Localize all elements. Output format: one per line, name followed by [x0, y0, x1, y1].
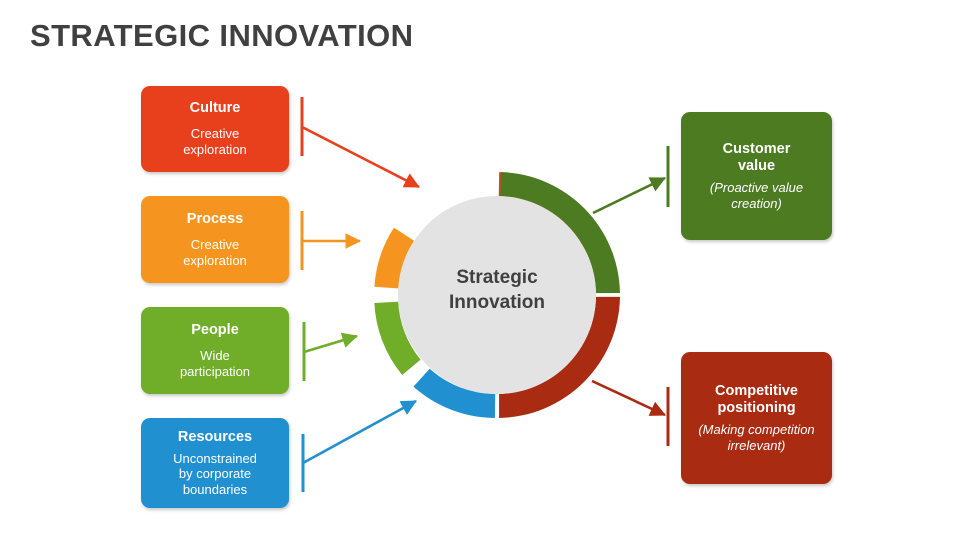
card-resources-title: Resources [178, 429, 252, 446]
card-people-subtitle-line2: participation [180, 364, 250, 380]
card-customer-value-title: Customer value [723, 141, 791, 175]
card-competitive-positioning-title-line2: positioning [715, 400, 798, 417]
card-culture-subtitle-line1: Creative [183, 126, 247, 142]
card-competitive-positioning[interactable]: Competitive positioning (Making competit… [681, 352, 832, 484]
card-customer-value-title-line2: value [723, 158, 791, 175]
arrow-culture [302, 97, 419, 187]
card-culture[interactable]: Culture Creative exploration [141, 86, 289, 172]
card-competitive-positioning-title: Competitive positioning [715, 383, 798, 417]
card-customer-value-subtitle-line1: (Proactive value [710, 180, 803, 196]
card-customer-value-subtitle: (Proactive value creation) [710, 180, 803, 212]
card-competitive-positioning-subtitle-line2: irrelevant) [698, 438, 814, 454]
card-process[interactable]: Process Creative exploration [141, 196, 289, 283]
card-people-subtitle-line1: Wide [180, 348, 250, 364]
card-process-subtitle: Creative exploration [183, 237, 247, 268]
card-competitive-positioning-subtitle: (Making competition irrelevant) [698, 422, 814, 454]
arrow-process [302, 211, 360, 270]
card-process-title: Process [187, 211, 243, 228]
card-culture-title: Culture [190, 100, 241, 117]
arrow-resources [303, 401, 416, 492]
card-resources-subtitle: Unconstrained by corporate boundaries [173, 451, 257, 498]
arrow-competitive-positioning [592, 381, 668, 446]
card-competitive-positioning-title-line1: Competitive [715, 383, 798, 400]
card-customer-value-title-line1: Customer [723, 141, 791, 158]
card-culture-subtitle-line2: exploration [183, 142, 247, 158]
card-resources-subtitle-line2: by corporate [173, 466, 257, 482]
card-resources-subtitle-line1: Unconstrained [173, 451, 257, 467]
slide-canvas: STRATEGIC INNOVATION Strategic Innovatio… [0, 0, 960, 540]
card-process-subtitle-line1: Creative [183, 237, 247, 253]
card-customer-value-subtitle-line2: creation) [710, 196, 803, 212]
arrow-customer-value [593, 146, 668, 213]
card-resources[interactable]: Resources Unconstrained by corporate bou… [141, 418, 289, 508]
card-competitive-positioning-subtitle-line1: (Making competition [698, 422, 814, 438]
card-process-subtitle-line2: exploration [183, 253, 247, 269]
card-people[interactable]: People Wide participation [141, 307, 289, 394]
card-customer-value[interactable]: Customer value (Proactive value creation… [681, 112, 832, 240]
card-people-subtitle: Wide participation [180, 348, 250, 379]
card-culture-subtitle: Creative exploration [183, 126, 247, 157]
arrow-people [304, 322, 357, 381]
card-people-title: People [191, 322, 239, 339]
card-resources-subtitle-line3: boundaries [173, 482, 257, 498]
